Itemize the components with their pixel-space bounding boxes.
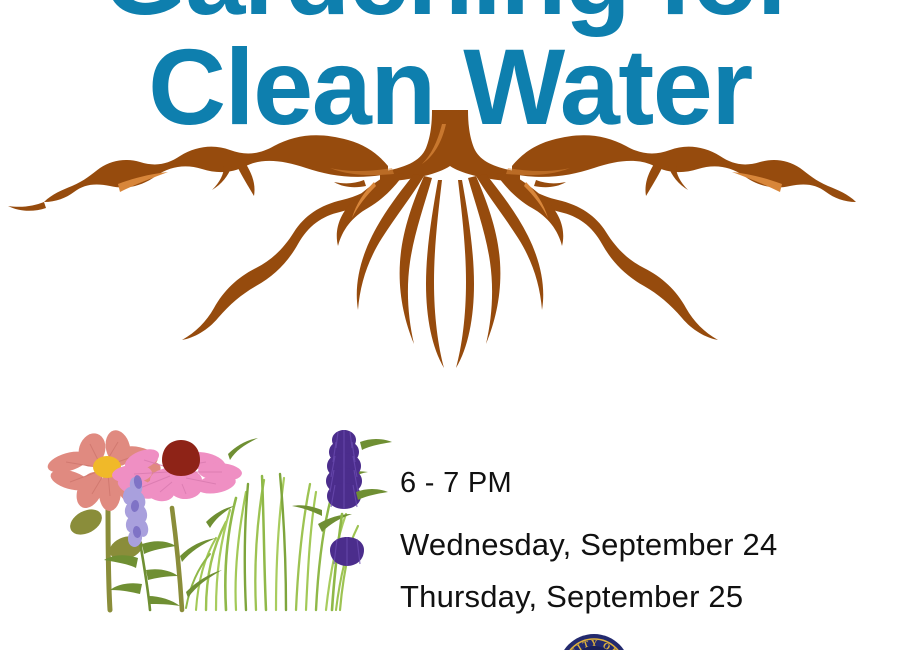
- event-date-2: Thursday, September 25: [400, 580, 860, 614]
- event-date-1: Wednesday, September 24: [400, 528, 860, 562]
- poster-canvas: Gardening for Clean Water: [0, 0, 900, 650]
- event-details: 6 - 7 PM Wednesday, September 24 Thursda…: [400, 468, 860, 632]
- roots-group: [8, 110, 856, 368]
- native-wildflowers-illustration: [30, 418, 400, 613]
- title-line-1: Gardening for: [0, 0, 900, 32]
- event-time: 6 - 7 PM: [400, 468, 860, 500]
- city-seal-logo: CITY OF: [556, 632, 632, 650]
- tree-roots-illustration: [0, 110, 900, 380]
- pink-flower-cone: [162, 440, 200, 476]
